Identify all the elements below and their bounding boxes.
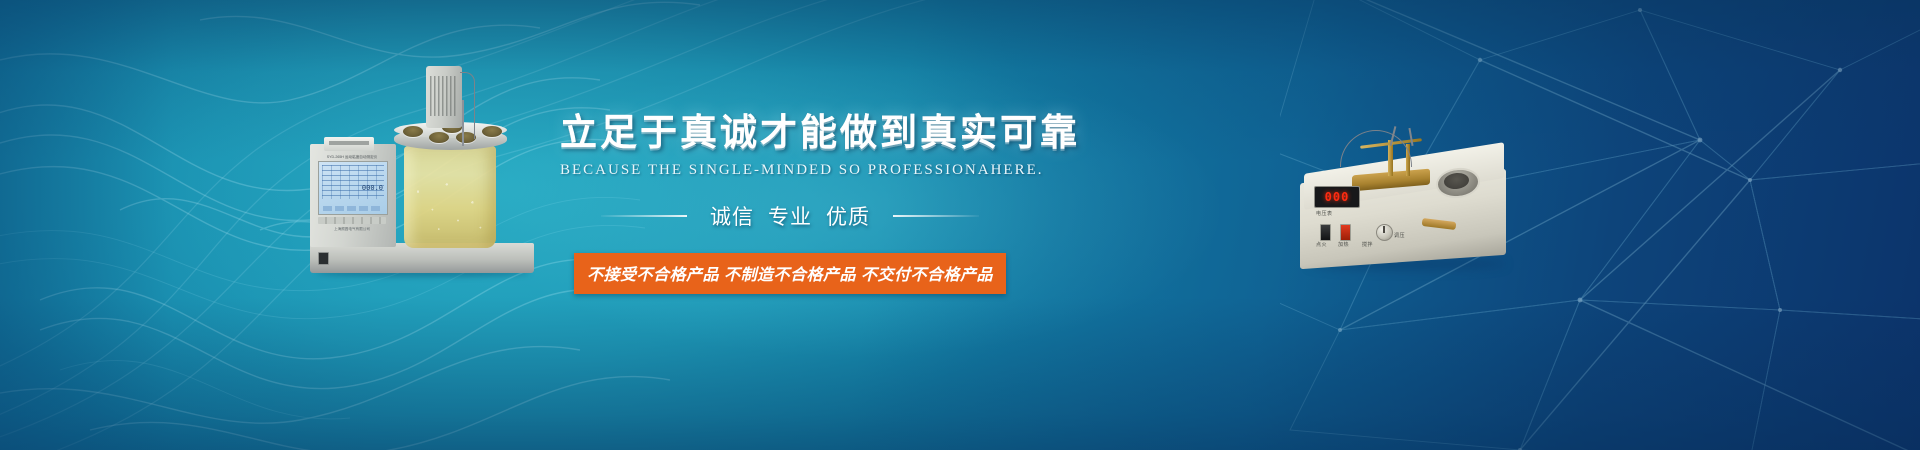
voltage-knob-label: 调压: [1394, 232, 1405, 239]
heater-switch: [1340, 224, 1351, 241]
console-keypad: [318, 217, 386, 224]
screen-readout: 000.0: [362, 184, 383, 192]
stirrer-label: 搅拌: [1362, 241, 1373, 248]
banner-tagline-row: 诚信专业优质: [560, 201, 1020, 231]
banner-copy-block: 立足于真诚才能做到真实可靠 BECAUSE THE SINGLE-MINDED …: [560, 112, 1020, 294]
sample-hole: [482, 126, 502, 137]
wire-loop: [1340, 130, 1412, 167]
promo-banner: SYD-265H 运动粘度自动测定仪 000.0 上海颜昌电气有限公司 000 …: [0, 0, 1920, 450]
heater-switch-label: 加热: [1338, 241, 1349, 248]
banner-tagline-words: 诚信专业优质: [703, 201, 877, 231]
tagline-rule-right: [893, 215, 979, 217]
instrument-brand-label: 上海颜昌电气有限公司: [318, 227, 386, 232]
oil-bath-bubbles: [410, 170, 490, 242]
voltage-display-label: 电压表: [1316, 210, 1333, 217]
voltage-knob: [1376, 224, 1393, 241]
motor-vents: [430, 76, 458, 116]
voltage-value: 000: [1325, 190, 1350, 204]
tagline-word-2: 专业: [768, 206, 812, 229]
screen-soft-buttons: [323, 206, 383, 211]
viscometer-bath-instrument: SYD-265H 运动粘度自动测定仪 000.0 上海颜昌电气有限公司: [302, 60, 542, 290]
tagline-rule-left: [601, 215, 687, 217]
banner-headline: 立足于真诚才能做到真实可靠: [560, 112, 1020, 153]
console-screen: 000.0: [318, 161, 388, 215]
voltage-display: 000: [1314, 186, 1360, 208]
banner-subline-english: BECAUSE THE SINGLE-MINDED SO PROFESSIONA…: [560, 162, 1020, 179]
sample-hole: [403, 126, 423, 137]
power-switch: [318, 252, 329, 265]
printer-paper-slot: [329, 141, 369, 145]
probe-shaft: [462, 100, 464, 146]
screen-data-grid: [322, 165, 384, 199]
flash-point-tester-instrument: 000 电压表 点火 加热 搅拌 调压: [1300, 120, 1520, 290]
quality-pledge-ribbon: 不接受不合格产品 不制造不合格产品 不交付不合格产品: [574, 253, 1006, 294]
ignition-switch: [1320, 224, 1331, 241]
instrument-model-label: SYD-265H 运动粘度自动测定仪: [318, 155, 386, 160]
tagline-word-1: 诚信: [710, 206, 754, 229]
tagline-word-3: 优质: [826, 206, 870, 229]
ignition-switch-label: 点火: [1316, 241, 1327, 248]
sample-hole: [429, 132, 449, 143]
